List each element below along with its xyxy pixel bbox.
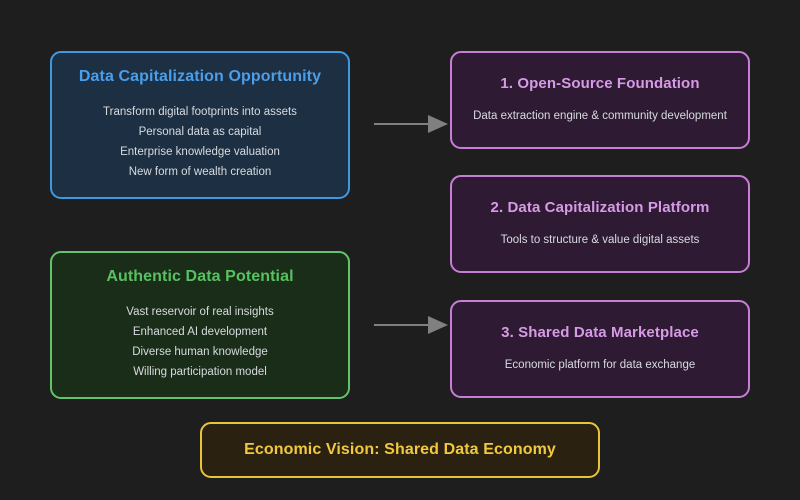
node-authentic-data-potential[interactable]: Authentic Data Potential Vast reservoir … bbox=[50, 251, 350, 399]
node-shared-data-marketplace[interactable]: 3. Shared Data Marketplace Economic plat… bbox=[450, 300, 750, 398]
node-line: Tools to structure & value digital asset… bbox=[501, 230, 700, 250]
node-line: Enterprise knowledge valuation bbox=[120, 142, 280, 162]
node-line: Economic platform for data exchange bbox=[505, 355, 696, 375]
node-line: Diverse human knowledge bbox=[132, 342, 268, 362]
node-data-capitalization-platform[interactable]: 2. Data Capitalization Platform Tools to… bbox=[450, 175, 750, 273]
node-economic-vision[interactable]: Economic Vision: Shared Data Economy bbox=[200, 422, 600, 478]
node-data-capitalization-opportunity[interactable]: Data Capitalization Opportunity Transfor… bbox=[50, 51, 350, 199]
node-title: 3. Shared Data Marketplace bbox=[501, 324, 699, 341]
node-title: Data Capitalization Opportunity bbox=[79, 68, 321, 86]
node-line: Enhanced AI development bbox=[133, 322, 267, 342]
node-line: Data extraction engine & community devel… bbox=[473, 106, 727, 126]
node-line: Vast reservoir of real insights bbox=[126, 302, 273, 322]
node-body: Data extraction engine & community devel… bbox=[473, 106, 727, 126]
node-line: Personal data as capital bbox=[139, 122, 262, 142]
node-title: 2. Data Capitalization Platform bbox=[491, 199, 710, 216]
node-title: 1. Open-Source Foundation bbox=[500, 75, 699, 92]
node-line: Willing participation model bbox=[133, 362, 267, 382]
arrow-opportunity-to-foundation-icon bbox=[372, 112, 450, 136]
node-body: Vast reservoir of real insights Enhanced… bbox=[126, 302, 273, 382]
node-line: New form of wealth creation bbox=[129, 162, 272, 182]
node-body: Tools to structure & value digital asset… bbox=[501, 230, 700, 250]
node-body: Transform digital footprints into assets… bbox=[103, 102, 297, 182]
node-title: Economic Vision: Shared Data Economy bbox=[244, 441, 556, 459]
node-body: Economic platform for data exchange bbox=[505, 355, 696, 375]
node-title: Authentic Data Potential bbox=[106, 268, 293, 286]
arrow-authentic-to-marketplace-icon bbox=[372, 313, 450, 337]
node-open-source-foundation[interactable]: 1. Open-Source Foundation Data extractio… bbox=[450, 51, 750, 149]
diagram-canvas: Data Capitalization Opportunity Transfor… bbox=[0, 0, 800, 500]
node-line: Transform digital footprints into assets bbox=[103, 102, 297, 122]
